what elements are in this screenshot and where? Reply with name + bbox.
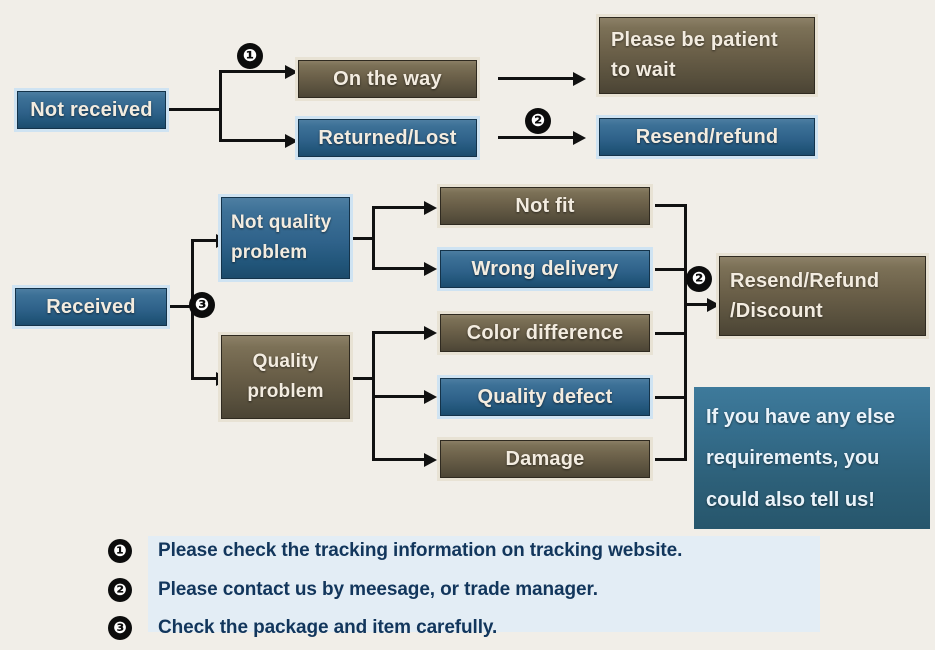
legend-badge-2: ❷ [108,578,132,602]
legend: ❶ Please check the tracking information … [0,0,935,650]
badge-three-middle: ❸ [189,292,215,318]
legend-row-3: ❸ Check the package and item carefully. [108,616,497,640]
flowchart-canvas: Not received ❶ On the way Returned/Lost … [0,0,935,650]
legend-badge-3: ❸ [108,616,132,640]
badge-one-top: ❶ [237,43,263,69]
legend-text-2: Please contact us by meesage, or trade m… [158,579,598,601]
legend-text-1: Please check the tracking information on… [158,540,682,562]
legend-row-1: ❶ Please check the tracking information … [108,539,682,563]
legend-row-2: ❷ Please contact us by meesage, or trade… [108,578,598,602]
legend-text-3: Check the package and item carefully. [158,617,497,639]
badge-two-middle: ❷ [686,266,712,292]
legend-badge-1: ❶ [108,539,132,563]
badge-two-top: ❷ [525,108,551,134]
